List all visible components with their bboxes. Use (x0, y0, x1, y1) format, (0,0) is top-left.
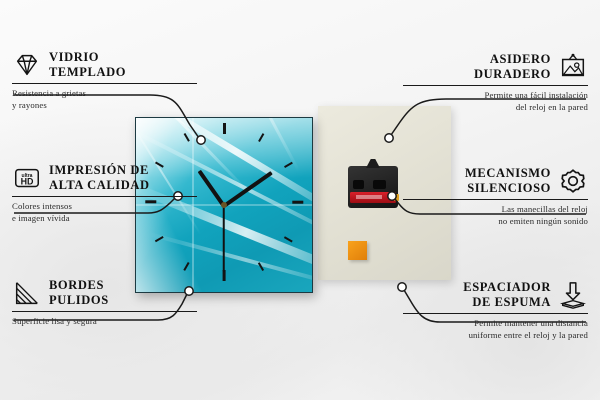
mechanism-recess (353, 180, 364, 189)
clock-second-hand (223, 206, 225, 272)
battery (350, 192, 396, 203)
feature-mecanismo-silencioso: MECANISMO SILENCIOSO Las manecillas del … (403, 166, 588, 228)
feature-vidrio-templado: VIDRIO TEMPLADO Resistencia a grietas y … (12, 50, 197, 112)
battery-label (356, 195, 382, 199)
battery-terminal (394, 194, 399, 201)
quartz-mechanism (348, 166, 398, 208)
diamond-icon (12, 50, 42, 80)
feature-title: IMPRESIÓN DE ALTA CALIDAD (49, 163, 150, 193)
feature-impresion-alta-calidad: ultra HD IMPRESIÓN DE ALTA CALIDAD Color… (12, 163, 197, 225)
feature-divider (12, 196, 197, 197)
feature-description: Superficie lisa y segura (12, 316, 197, 328)
feature-title: ASIDERO DURADERO (474, 52, 551, 82)
feature-divider (403, 85, 588, 86)
feature-description: Permite mantener una distancia uniforme … (403, 318, 588, 341)
feature-description: Las manecillas del reloj no emiten ningú… (403, 204, 588, 227)
feature-divider (12, 83, 197, 84)
clock-center-hub (221, 202, 227, 208)
feature-header: VIDRIO TEMPLADO (12, 50, 197, 80)
feature-espaciador-de-espuma: ESPACIADOR DE ESPUMA Permite mantener un… (403, 280, 588, 342)
svg-text:HD: HD (21, 177, 34, 187)
feature-bordes-pulidos: BORDES PULIDOS Superficie lisa y segura (12, 278, 197, 328)
gear-icon (558, 166, 588, 196)
arrow-down-pad-icon (558, 280, 588, 310)
feature-header: ultra HD IMPRESIÓN DE ALTA CALIDAD (12, 163, 197, 193)
feature-asidero-duradero: ASIDERO DURADERO Permite una fácil insta… (403, 52, 588, 114)
feature-description: Permite una fácil instalación del reloj … (403, 90, 588, 113)
feature-title: MECANISMO SILENCIOSO (465, 166, 551, 196)
polished-edges-icon (12, 278, 42, 308)
feature-header: ESPACIADOR DE ESPUMA (403, 280, 588, 310)
feature-description: Colores intensos e imagen vívida (12, 201, 197, 224)
foam-spacer (348, 241, 367, 260)
feature-header: ASIDERO DURADERO (403, 52, 588, 82)
feature-divider (403, 199, 588, 200)
mechanism-recess (373, 180, 386, 189)
infographic-canvas: VIDRIO TEMPLADO Resistencia a grietas y … (0, 0, 600, 400)
feature-title: BORDES PULIDOS (49, 278, 109, 308)
clock-tick (223, 123, 226, 134)
feature-title: ESPACIADOR DE ESPUMA (463, 280, 551, 310)
ultra-hd-icon: ultra HD (12, 163, 42, 193)
feature-title: VIDRIO TEMPLADO (49, 50, 126, 80)
feature-divider (12, 311, 197, 312)
picture-frame-hanger-icon (558, 52, 588, 82)
feature-description: Resistencia a grietas y rayones (12, 88, 197, 111)
clock-tick (292, 201, 303, 204)
feature-header: MECANISMO SILENCIOSO (403, 166, 588, 196)
feature-divider (403, 313, 588, 314)
feature-header: BORDES PULIDOS (12, 278, 197, 308)
